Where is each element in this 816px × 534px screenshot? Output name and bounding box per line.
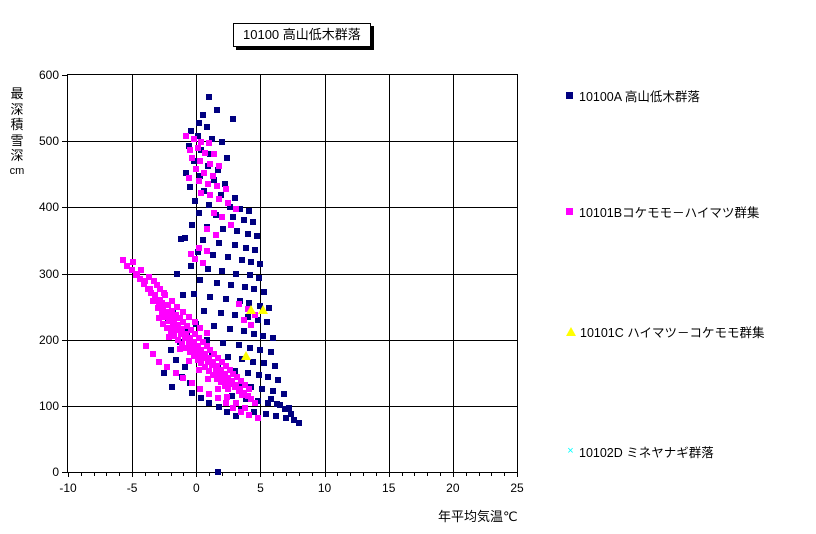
data-point-series-1	[224, 409, 230, 415]
data-point-series-2	[201, 170, 207, 176]
x-axis-tick	[158, 472, 159, 476]
data-point-series-1	[196, 210, 202, 216]
data-point-series-2	[150, 351, 156, 357]
data-point-series-2	[143, 343, 149, 349]
legend-marker-icon	[566, 327, 576, 336]
data-point-series-1	[232, 195, 238, 201]
data-point-series-1	[232, 242, 238, 248]
y-axis-title-char: 深	[6, 102, 28, 118]
x-axis-tick-label: 10	[318, 481, 331, 495]
data-point-series-2	[239, 392, 245, 398]
x-axis-tick	[325, 472, 326, 477]
data-point-series-1	[210, 252, 216, 258]
data-point-series-2	[152, 292, 158, 298]
x-axis-tick	[466, 472, 467, 476]
x-axis-tick-label: 20	[446, 481, 459, 495]
data-point-series-2	[177, 346, 183, 352]
data-point-series-1	[189, 390, 195, 396]
x-axis-tick	[363, 472, 364, 476]
x-axis-tick	[414, 472, 415, 476]
data-point-series-1	[206, 400, 212, 406]
data-point-series-1	[188, 128, 194, 134]
data-point-series-2	[211, 151, 217, 157]
x-axis-tick	[145, 472, 146, 476]
chart-page: 10100 高山低木群落 最深積雪深 cm 年平均気温℃ 01002003004…	[0, 0, 816, 534]
data-point-series-2	[219, 214, 225, 220]
data-point-series-1	[288, 411, 294, 417]
data-point-series-1	[198, 395, 204, 401]
data-point-series-2	[197, 325, 203, 331]
x-axis-tick	[337, 472, 338, 476]
x-axis-tick	[427, 472, 428, 476]
y-axis-title-char: 深	[6, 148, 28, 164]
gridline-horizontal	[68, 141, 517, 142]
data-point-series-1	[215, 469, 221, 475]
x-axis-tick-label: 0	[193, 481, 200, 495]
data-point-series-2	[255, 415, 261, 421]
data-point-series-2	[206, 391, 212, 397]
data-point-series-1	[245, 370, 251, 376]
data-point-series-1	[252, 247, 258, 253]
data-point-series-1	[250, 219, 256, 225]
data-point-series-2	[195, 145, 201, 151]
y-axis-tick-label: 500	[39, 134, 59, 148]
data-point-series-1	[214, 280, 220, 286]
data-point-series-1	[272, 363, 278, 369]
data-point-series-2	[191, 136, 197, 142]
x-axis-tick	[517, 472, 518, 477]
data-point-series-1	[260, 333, 266, 339]
data-point-series-1	[264, 319, 270, 325]
data-point-series-1	[259, 386, 265, 392]
legend-label: 10102D ミネヤナギ群落	[579, 442, 714, 461]
data-point-series-1	[207, 294, 213, 300]
data-point-series-2	[187, 147, 193, 153]
x-axis-tick	[209, 472, 210, 476]
data-point-series-1	[220, 226, 226, 232]
data-point-series-2	[150, 298, 156, 304]
y-axis-tick	[62, 141, 68, 142]
data-point-series-1	[263, 411, 269, 417]
data-point-series-2	[241, 317, 247, 323]
legend-label: 10101C ハイマツ－コケモモ群集	[580, 322, 765, 341]
data-point-series-1	[225, 254, 231, 260]
data-point-series-2	[186, 358, 192, 364]
data-point-series-1	[230, 116, 236, 122]
data-point-series-1	[275, 377, 281, 383]
data-point-series-1	[161, 370, 167, 376]
gridline-vertical	[325, 75, 326, 472]
data-point-series-2	[213, 232, 219, 238]
data-point-series-1	[192, 198, 198, 204]
y-axis-title-char: 最	[6, 86, 28, 102]
data-point-series-1	[257, 347, 263, 353]
data-point-series-2	[151, 278, 157, 284]
data-point-series-1	[182, 364, 188, 370]
data-point-series-3	[241, 351, 251, 360]
data-point-series-2	[189, 380, 195, 386]
data-point-series-1	[242, 284, 248, 290]
x-axis-tick	[504, 472, 505, 476]
x-axis-tick	[273, 472, 274, 476]
data-point-series-2	[223, 186, 229, 192]
data-point-series-1	[232, 312, 238, 318]
data-point-series-1	[216, 240, 222, 246]
data-point-series-1	[201, 308, 207, 314]
data-point-series-1	[189, 222, 195, 228]
data-point-series-1	[270, 388, 276, 394]
x-axis-tick	[119, 472, 120, 476]
y-axis-tick-label: 600	[39, 68, 59, 82]
data-point-series-2	[214, 183, 220, 189]
x-axis-tick-label: 5	[257, 481, 264, 495]
x-axis-tick	[453, 472, 454, 477]
x-axis-tick	[171, 472, 172, 476]
y-axis-tick-label: 200	[39, 333, 59, 347]
data-point-series-2	[206, 140, 212, 146]
data-point-series-2	[215, 395, 221, 401]
x-axis-tick	[260, 472, 261, 477]
data-point-series-1	[180, 292, 186, 298]
data-point-series-2	[196, 367, 202, 373]
data-point-series-1	[256, 372, 262, 378]
x-axis-tick	[94, 472, 95, 476]
y-axis-title-char: 雪	[6, 133, 28, 149]
data-point-series-1	[268, 349, 274, 355]
data-point-series-1	[178, 236, 184, 242]
data-point-series-1	[234, 228, 240, 234]
data-point-series-1	[205, 266, 211, 272]
x-axis-tick	[235, 472, 236, 476]
legend-marker-icon	[566, 208, 573, 215]
y-axis-title-chars: 最深積雪深	[6, 86, 28, 164]
data-point-series-2	[248, 322, 254, 328]
data-point-series-2	[223, 400, 229, 406]
data-point-series-2	[246, 412, 252, 418]
data-point-series-2	[159, 300, 165, 306]
data-point-series-2	[196, 245, 202, 251]
data-point-series-1	[233, 271, 239, 277]
data-point-series-1	[248, 259, 254, 265]
data-point-series-2	[198, 190, 204, 196]
data-point-series-1	[256, 275, 262, 281]
data-point-series-2	[162, 292, 168, 298]
data-point-series-1	[274, 401, 280, 407]
data-point-series-1	[227, 326, 233, 332]
legend-item-3[interactable]: 10101C ハイマツ－コケモモ群集	[566, 322, 765, 341]
data-point-series-2	[196, 178, 202, 184]
data-point-series-1	[228, 282, 234, 288]
data-point-series-2	[207, 161, 213, 167]
data-point-series-2	[224, 394, 230, 400]
data-point-series-1	[188, 263, 194, 269]
data-point-series-1	[173, 357, 179, 363]
data-point-series-2	[230, 405, 236, 411]
data-point-series-2	[156, 315, 162, 321]
data-point-series-2	[225, 386, 231, 392]
data-point-series-1	[241, 328, 247, 334]
y-axis-tick-label: 300	[39, 267, 59, 281]
x-axis-tick	[132, 472, 133, 477]
data-point-series-1	[223, 296, 229, 302]
legend-item-1[interactable]: 10100A 高山低木群落	[566, 86, 700, 105]
data-point-series-1	[251, 331, 257, 337]
data-point-series-2	[204, 330, 210, 336]
data-point-series-1	[254, 233, 260, 239]
data-point-series-1	[261, 289, 267, 295]
x-axis-title: 年平均気温℃	[438, 506, 518, 525]
data-point-series-1	[268, 396, 274, 402]
data-point-series-2	[166, 334, 172, 340]
data-point-series-1	[204, 124, 210, 130]
data-point-series-2	[216, 196, 222, 202]
data-point-series-2	[186, 314, 192, 320]
y-axis-title-char: 積	[6, 117, 28, 133]
legend-label: 10100A 高山低木群落	[579, 86, 700, 105]
chart-legend: 10100A 高山低木群落10101Bコケモモ－ハイマツ群集10101C ハイマ…	[566, 74, 812, 473]
data-point-series-1	[257, 261, 263, 267]
x-axis-tick	[479, 472, 480, 476]
y-axis-tick	[62, 406, 68, 407]
legend-item-2[interactable]: 10101Bコケモモ－ハイマツ群集	[566, 202, 759, 221]
data-point-series-1	[168, 347, 174, 353]
legend-marker-icon	[566, 92, 573, 99]
data-point-series-1	[247, 345, 253, 351]
data-point-series-1	[196, 120, 202, 126]
data-point-series-2	[200, 260, 206, 266]
x-axis-tick	[81, 472, 82, 476]
x-axis-tick	[68, 472, 69, 477]
data-point-series-1	[282, 406, 288, 412]
y-axis-tick	[62, 274, 68, 275]
data-point-series-2	[134, 271, 140, 277]
x-axis-tick	[350, 472, 351, 476]
data-point-series-1	[225, 354, 231, 360]
legend-marker-icon: ×	[566, 447, 575, 456]
data-point-series-2	[204, 226, 210, 232]
y-axis-unit: cm	[6, 164, 28, 180]
data-point-series-1	[219, 139, 225, 145]
x-axis-tick	[286, 472, 287, 476]
data-point-series-1	[239, 257, 245, 263]
x-axis-tick	[402, 472, 403, 476]
plot-area: 0100200300400500600-10-50510152025	[67, 74, 518, 473]
data-point-series-2	[202, 150, 208, 156]
data-point-series-1	[243, 245, 249, 251]
legend-item-4[interactable]: ×10102D ミネヤナギ群落	[566, 442, 714, 461]
data-point-series-2	[197, 386, 203, 392]
data-point-series-1	[261, 360, 267, 366]
x-axis-tick-label: 25	[510, 481, 523, 495]
data-point-series-2	[252, 400, 258, 406]
y-axis-tick	[62, 207, 68, 208]
data-point-series-2	[156, 359, 162, 365]
data-point-series-2	[210, 173, 216, 179]
gridline-horizontal	[68, 340, 517, 341]
data-point-series-1	[245, 231, 251, 237]
x-axis-tick	[376, 472, 377, 476]
data-point-series-2	[183, 133, 189, 139]
data-point-series-2	[192, 256, 198, 262]
data-point-series-1	[206, 202, 212, 208]
gridline-horizontal	[68, 406, 517, 407]
data-point-series-2	[180, 375, 186, 381]
data-point-series-1	[241, 217, 247, 223]
data-point-series-1	[220, 340, 226, 346]
gridline-vertical	[389, 75, 390, 472]
legend-label: 10101Bコケモモ－ハイマツ群集	[579, 202, 759, 221]
data-point-series-1	[265, 374, 271, 380]
data-point-series-2	[142, 278, 148, 284]
data-point-series-2	[207, 192, 213, 198]
data-point-series-1	[236, 342, 242, 348]
data-point-series-3	[246, 305, 256, 314]
data-point-series-1	[219, 268, 225, 274]
data-point-series-1	[206, 94, 212, 100]
data-point-series-2	[216, 163, 222, 169]
x-axis-tick	[389, 472, 390, 477]
data-point-series-2	[238, 409, 244, 415]
data-point-series-2	[236, 301, 242, 307]
y-axis-tick-label: 0	[52, 465, 59, 479]
x-axis-tick-label: -10	[59, 481, 76, 495]
data-point-series-1	[229, 393, 235, 399]
data-point-series-1	[197, 277, 203, 283]
data-point-series-2	[246, 386, 252, 392]
x-axis-tick	[312, 472, 313, 476]
data-point-series-2	[130, 259, 136, 265]
data-point-series-1	[296, 420, 302, 426]
data-point-series-2	[197, 158, 203, 164]
x-axis-tick	[299, 472, 300, 476]
data-point-series-1	[191, 291, 197, 297]
x-axis-tick	[183, 472, 184, 476]
data-point-series-2	[186, 175, 192, 181]
chart-title: 10100 高山低木群落	[233, 23, 371, 47]
y-axis-tick-label: 400	[39, 200, 59, 214]
gridline-vertical	[260, 75, 261, 472]
data-point-series-2	[173, 370, 179, 376]
x-axis-tick	[491, 472, 492, 476]
data-point-series-2	[205, 376, 211, 382]
x-axis-tick	[222, 472, 223, 476]
data-point-series-2	[205, 181, 211, 187]
x-axis-tick	[248, 472, 249, 476]
data-point-series-1	[251, 286, 257, 292]
data-point-series-2	[233, 206, 239, 212]
data-point-series-1	[200, 112, 206, 118]
data-point-series-1	[169, 384, 175, 390]
data-point-series-2	[228, 222, 234, 228]
x-axis-tick-label: 15	[382, 481, 395, 495]
gridline-vertical	[453, 75, 454, 472]
data-point-series-1	[255, 317, 261, 323]
x-axis-tick-label: -5	[127, 481, 138, 495]
data-point-series-2	[211, 210, 217, 216]
data-point-series-1	[218, 310, 224, 316]
data-point-series-1	[211, 323, 217, 329]
data-point-series-3	[258, 305, 268, 314]
data-point-series-1	[247, 272, 253, 278]
y-axis-tick	[62, 340, 68, 341]
data-point-series-1	[230, 214, 236, 220]
x-axis-tick	[440, 472, 441, 476]
y-axis-title: 最深積雪深 cm	[6, 86, 28, 179]
x-axis-tick	[106, 472, 107, 476]
data-point-series-1	[281, 391, 287, 397]
x-axis-tick	[196, 472, 197, 477]
data-point-series-1	[273, 413, 279, 419]
gridline-horizontal	[68, 207, 517, 208]
data-point-series-2	[174, 304, 180, 310]
data-point-series-1	[216, 404, 222, 410]
y-axis-tick-label: 100	[39, 399, 59, 413]
data-point-series-2	[204, 248, 210, 254]
data-point-series-1	[200, 237, 206, 243]
data-point-series-2	[225, 200, 231, 206]
data-point-series-2	[189, 155, 195, 161]
data-point-series-1	[246, 208, 252, 214]
data-point-series-1	[214, 107, 220, 113]
data-point-series-1	[224, 155, 230, 161]
data-point-series-1	[174, 271, 180, 277]
y-axis-tick	[62, 75, 68, 76]
data-point-series-1	[270, 335, 276, 341]
data-point-series-1	[187, 184, 193, 190]
data-point-series-2	[215, 386, 221, 392]
data-point-series-2	[164, 364, 170, 370]
data-point-series-2	[193, 166, 199, 172]
